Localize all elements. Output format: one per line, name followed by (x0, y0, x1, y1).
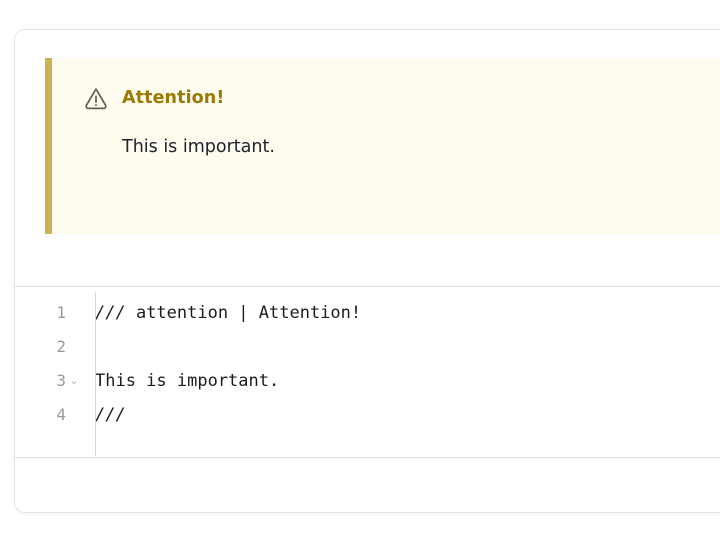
admonition-title: Attention! (122, 85, 224, 111)
admonition-body: Attention! This is important. (52, 58, 720, 234)
warning-triangle-icon (83, 85, 109, 111)
code-token-fence: /// (95, 405, 126, 425)
gutter-separator (95, 292, 96, 456)
code-line-text[interactable]: /// attention | Attention! (82, 296, 361, 330)
code-line-text[interactable] (82, 330, 105, 364)
page-root: Attention! This is important. 1/// atten… (0, 0, 720, 544)
code-line-row[interactable]: 1/// attention | Attention! (15, 296, 720, 330)
line-number: 1 (44, 296, 66, 330)
code-line-row[interactable]: 3⌄This is important. (15, 364, 720, 398)
preview-pane: Attention! This is important. (15, 30, 720, 286)
admonition-text: This is important. (122, 135, 720, 159)
admonition-accent-bar (45, 58, 52, 234)
admonition-header: Attention! (83, 85, 720, 111)
editor-footer (15, 458, 720, 513)
line-gutter: 3⌄ (15, 364, 82, 398)
code-line-text[interactable]: /// (82, 398, 126, 432)
code-lines-container[interactable]: 1/// attention | Attention!2 3⌄This is i… (15, 296, 720, 457)
line-number: 2 (44, 330, 66, 364)
code-token-text: This is important. (95, 371, 279, 391)
chevron-down-fold-icon[interactable]: ⌄ (66, 364, 82, 398)
code-line-row[interactable]: 2 (15, 330, 720, 364)
code-line-text[interactable]: This is important. (82, 364, 279, 398)
attention-admonition: Attention! This is important. (45, 58, 720, 234)
code-token-text: attention | Attention! (126, 303, 361, 323)
line-number: 4 (44, 398, 66, 432)
line-gutter: 4 (15, 398, 82, 432)
playground-card: Attention! This is important. 1/// atten… (14, 29, 720, 513)
code-line-row[interactable]: 4/// (15, 398, 720, 432)
code-editor[interactable]: 1/// attention | Attention!2 3⌄This is i… (15, 287, 720, 457)
line-gutter: 1 (15, 296, 82, 330)
code-token-fence: /// (95, 303, 126, 323)
line-gutter: 2 (15, 330, 82, 364)
line-number: 3 (44, 364, 66, 398)
